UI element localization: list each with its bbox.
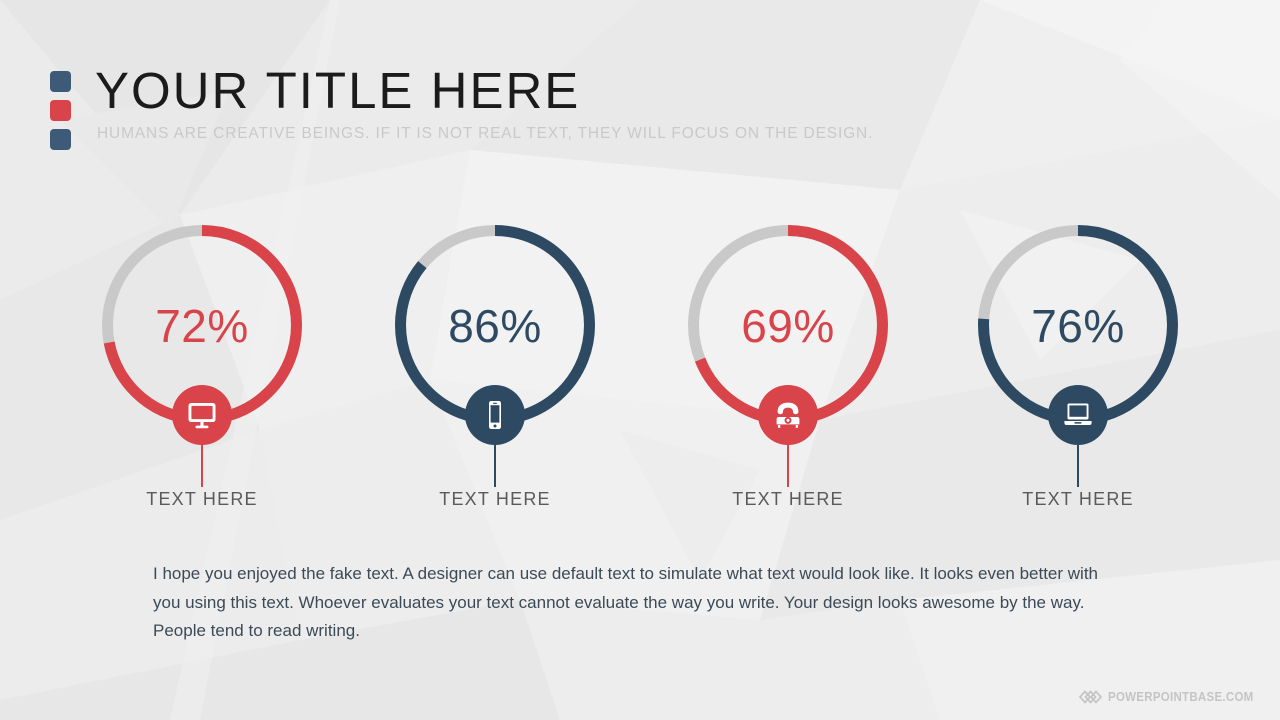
title-marker-navy-top [50, 71, 71, 92]
gauge-label-1: TEXT HERE [99, 487, 305, 511]
gauge-row: 72% TEXT HERE 86% [0, 222, 1280, 522]
gauge-connector-4 [1077, 445, 1079, 487]
gauge-item-1[interactable]: 72% TEXT HERE [99, 222, 305, 522]
gauge-connector-2 [494, 445, 496, 487]
gauge-value-2: 86% [392, 300, 598, 352]
page-subtitle: HUMANS ARE CREATIVE BEINGS. IF IT IS NOT… [97, 124, 873, 144]
title-marker-red [50, 100, 71, 121]
title-marker-stack [50, 71, 71, 150]
gauge-item-2[interactable]: 86% TEXT HERE [392, 222, 598, 522]
gauge-badge-3[interactable] [758, 385, 818, 445]
slide-canvas: YOUR TITLE HERE HUMANS ARE CREATIVE BEIN… [0, 0, 1280, 720]
gauge-value-4: 76% [975, 300, 1181, 352]
body-paragraph: I hope you enjoyed the fake text. A desi… [153, 560, 1113, 646]
gauge-badge-2[interactable] [465, 385, 525, 445]
title-marker-navy-bottom [50, 129, 71, 150]
gauge-value-1: 72% [99, 300, 305, 352]
gauge-label-3: TEXT HERE [685, 487, 891, 511]
gauge-item-4[interactable]: 76% TEXT HERE [975, 222, 1181, 522]
page-title: YOUR TITLE HERE [95, 62, 580, 120]
gauge-connector-1 [201, 445, 203, 487]
gauge-badge-1[interactable] [172, 385, 232, 445]
gauge-label-4: TEXT HERE [975, 487, 1181, 511]
watermark-text: POWERPOINTBASE.COM [1108, 690, 1254, 704]
laptop-icon [1061, 398, 1095, 432]
title-block: YOUR TITLE HERE HUMANS ARE CREATIVE BEIN… [50, 62, 1150, 157]
watermark: POWERPOINTBASE.COM [1078, 686, 1266, 708]
gauge-connector-3 [787, 445, 789, 487]
chevron-diamond-logo [1078, 686, 1102, 708]
desktop-monitor-icon [185, 398, 219, 432]
landline-telephone-icon [771, 398, 805, 432]
gauge-item-3[interactable]: 69% TEXT HERE [685, 222, 891, 522]
gauge-value-3: 69% [685, 300, 891, 352]
gauge-badge-4[interactable] [1048, 385, 1108, 445]
smartphone-icon [478, 398, 512, 432]
gauge-label-2: TEXT HERE [392, 487, 598, 511]
